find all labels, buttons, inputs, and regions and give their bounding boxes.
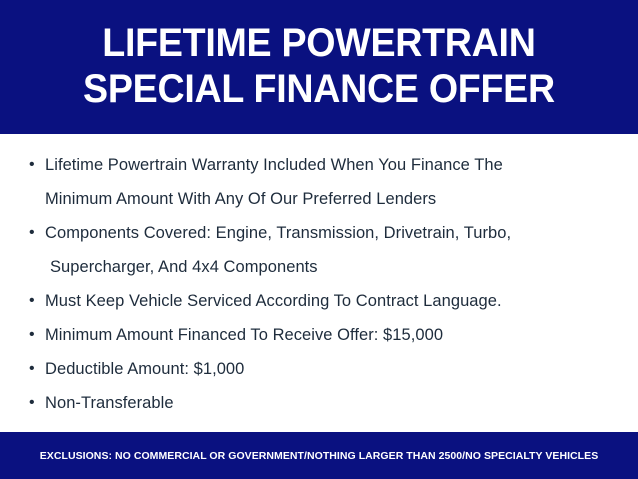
list-item: • Lifetime Powertrain Warranty Included … [22,148,616,216]
list-item-text: Non-Transferable [44,386,616,420]
list-item-line: Components Covered: Engine, Transmission… [45,216,616,250]
list-item: • Must Keep Vehicle Serviced According T… [22,284,616,318]
bullet-point-icon: • [22,148,44,182]
list-item-text: Minimum Amount Financed To Receive Offer… [44,318,616,352]
offer-details-body: • Lifetime Powertrain Warranty Included … [0,134,638,432]
bullet-point-icon: • [22,284,44,318]
page-title-line-1: LIFETIME POWERTRAIN [83,20,555,66]
list-item-line: Minimum Amount Financed To Receive Offer… [45,318,616,352]
list-item: • Non-Transferable [22,386,616,420]
list-item-line: Minimum Amount With Any Of Our Preferred… [45,182,616,216]
list-item-text: Lifetime Powertrain Warranty Included Wh… [44,148,616,216]
list-item-line: Deductible Amount: $1,000 [45,352,616,386]
list-item-line: Lifetime Powertrain Warranty Included Wh… [45,148,616,182]
list-item-line: Non-Transferable [45,386,616,420]
list-item-text: Components Covered: Engine, Transmission… [44,216,616,284]
list-item-text: Must Keep Vehicle Serviced According To … [44,284,616,318]
list-item: • Components Covered: Engine, Transmissi… [22,216,616,284]
list-item-line: Supercharger, And 4x4 Components [45,250,616,284]
list-item-text: Deductible Amount: $1,000 [44,352,616,386]
offer-slide: LIFETIME POWERTRAIN SPECIAL FINANCE OFFE… [0,0,638,479]
list-item: • Minimum Amount Financed To Receive Off… [22,318,616,352]
offer-terms-list: • Lifetime Powertrain Warranty Included … [22,148,616,420]
bullet-point-icon: • [22,352,44,386]
list-item: • Deductible Amount: $1,000 [22,352,616,386]
list-item-line: Must Keep Vehicle Serviced According To … [45,284,616,318]
page-title: LIFETIME POWERTRAIN SPECIAL FINANCE OFFE… [83,20,555,112]
exclusions-disclaimer: EXCLUSIONS: NO COMMERCIAL OR GOVERNMENT/… [40,449,599,463]
bullet-point-icon: • [22,386,44,420]
page-title-line-2: SPECIAL FINANCE OFFER [83,66,555,112]
header-band: LIFETIME POWERTRAIN SPECIAL FINANCE OFFE… [0,0,638,134]
bullet-point-icon: • [22,318,44,352]
footer-band: EXCLUSIONS: NO COMMERCIAL OR GOVERNMENT/… [0,432,638,479]
bullet-point-icon: • [22,216,44,250]
